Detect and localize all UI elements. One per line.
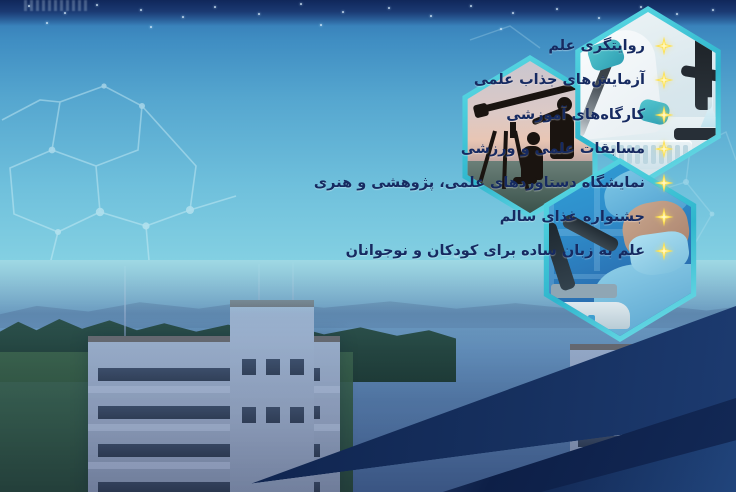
programme-item-3[interactable]: کارگاه‌های آموزشی (506, 104, 674, 126)
cropped-watermark (24, 0, 88, 11)
sparkle-icon (654, 70, 674, 90)
programme-item-5[interactable]: نمایشگاه دستاوردهای علمی، پژوهشی و هنری (314, 172, 674, 194)
programme-item-label: جشنواره غذای سالم (500, 209, 645, 225)
programme-item-label: کارگاه‌های آموزشی (506, 107, 645, 123)
sparkle-icon (654, 36, 674, 56)
programme-item-label: روایتگری علم (548, 38, 645, 54)
sparkle-icon (654, 241, 674, 261)
programme-item-label: آزمایش‌های جذاب علمی (474, 72, 645, 88)
sparkle-icon (654, 139, 674, 159)
programme-item-label: نمایشگاه دستاوردهای علمی، پژوهشی و هنری (314, 175, 645, 191)
sparkle-icon (654, 207, 674, 227)
programme-item-1[interactable]: روایتگری علم (548, 35, 674, 57)
sparkle-icon (654, 105, 674, 125)
programme-item-label: مسابقات علمی و ورزشی (461, 141, 645, 157)
programme-item-6[interactable]: جشنواره غذای سالم (500, 206, 674, 228)
programme-item-7[interactable]: علم به زبان ساده برای کودکان و نوجوانان (346, 240, 674, 262)
programme-item-label: علم به زبان ساده برای کودکان و نوجوانان (346, 243, 645, 259)
sparkle-icon (654, 173, 674, 193)
poster-canvas: روایتگری علمآزمایش‌های جذاب علمیکارگاه‌ه… (0, 0, 736, 492)
programme-item-2[interactable]: آزمایش‌های جذاب علمی (474, 69, 674, 91)
programme-item-4[interactable]: مسابقات علمی و ورزشی (461, 138, 674, 160)
